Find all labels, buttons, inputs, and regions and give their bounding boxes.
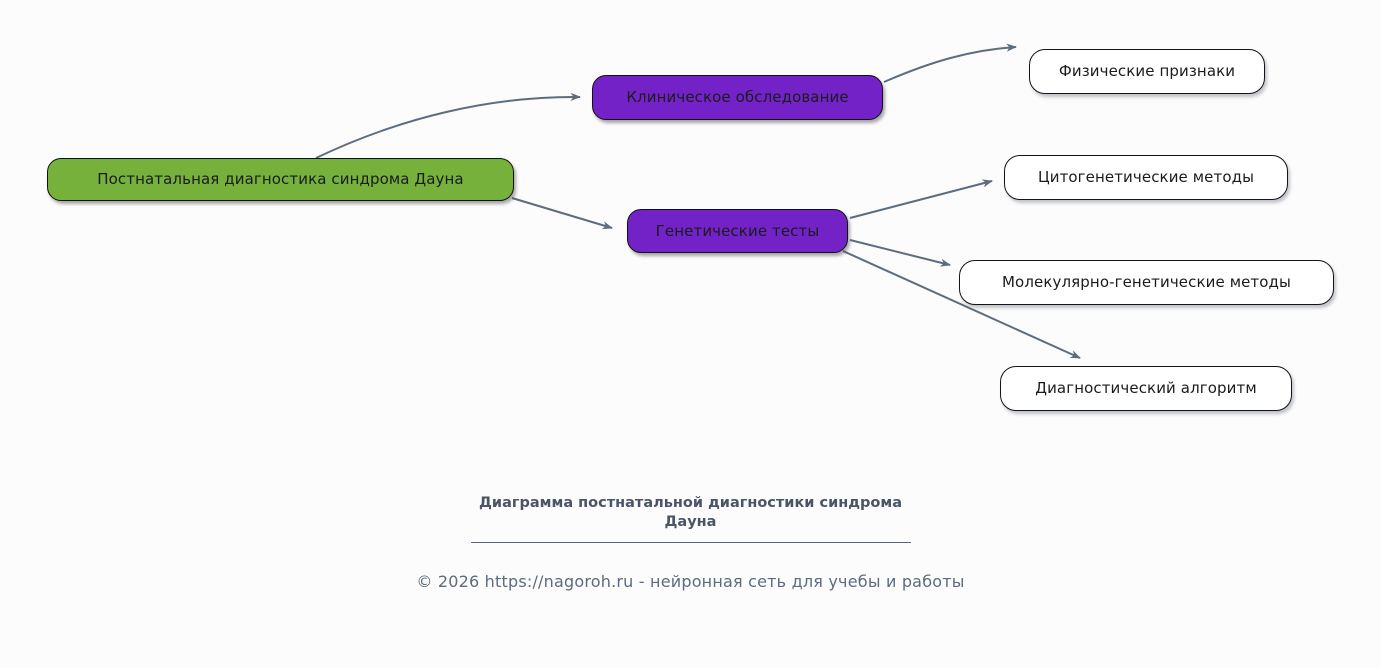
node-diagnostic-algorithm-label: Диагностический алгоритм <box>1035 381 1256 396</box>
node-physical-signs[interactable]: Физические признаки <box>1029 49 1265 94</box>
caption-title-line1: Диаграмма постнатальной диагностики синд… <box>479 495 902 511</box>
node-cytogenetic-methods-label: Цитогенетические методы <box>1038 170 1254 185</box>
node-genetic-tests-label: Генетические тесты <box>656 224 820 239</box>
node-cytogenetic-methods[interactable]: Цитогенетические методы <box>1004 155 1288 200</box>
edge-root-to-genetic <box>512 198 612 228</box>
edge-clinical-to-physical <box>884 47 1016 82</box>
footer-credit-text: © 2026 https://nagoroh.ru - нейронная се… <box>416 572 964 591</box>
node-molecular-genetic-methods[interactable]: Молекулярно-генетические методы <box>959 260 1334 305</box>
edge-genetic-to-molecular <box>850 240 950 265</box>
diagram-caption: Диаграмма постнатальной диагностики синд… <box>0 494 1381 543</box>
node-clinical-examination[interactable]: Клиническое обследование <box>592 75 883 120</box>
caption-divider <box>471 542 911 543</box>
node-physical-signs-label: Физические признаки <box>1059 64 1235 79</box>
node-root-label: Постнатальная диагностика синдрома Дауна <box>97 172 463 187</box>
node-genetic-tests[interactable]: Генетические тесты <box>627 209 848 253</box>
caption-title-line2: Дауна <box>665 514 717 530</box>
footer-credit: © 2026 https://nagoroh.ru - нейронная се… <box>0 572 1381 591</box>
caption-title: Диаграмма постнатальной диагностики синд… <box>421 494 961 532</box>
node-clinical-examination-label: Клиническое обследование <box>626 90 848 105</box>
edge-root-to-clinical <box>316 97 580 158</box>
node-root[interactable]: Постнатальная диагностика синдрома Дауна <box>47 158 514 201</box>
diagram-canvas: Постнатальная диагностика синдрома Дауна… <box>0 0 1381 668</box>
node-diagnostic-algorithm[interactable]: Диагностический алгоритм <box>1000 366 1292 411</box>
node-molecular-genetic-methods-label: Молекулярно-генетические методы <box>1002 275 1291 290</box>
edge-genetic-to-cytogenetic <box>850 181 992 218</box>
